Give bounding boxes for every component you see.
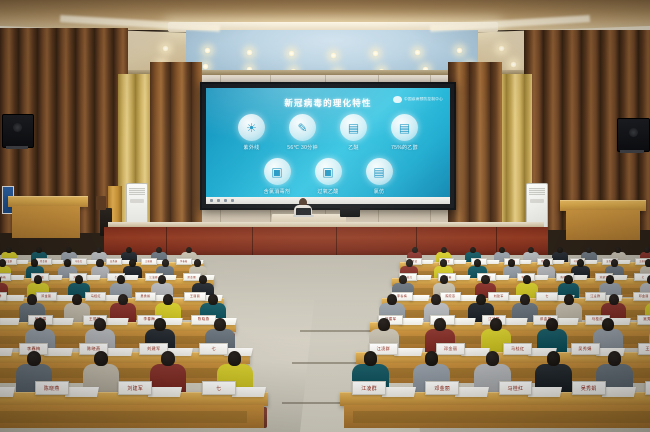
desk-paper <box>0 318 19 325</box>
attendee-head <box>499 247 505 253</box>
slide-item: ▤氯仿 <box>359 158 399 195</box>
speaker-left <box>2 114 34 148</box>
attendee-head <box>520 294 530 305</box>
attendee-head <box>117 275 125 284</box>
name-placard: 吴秀娟 <box>106 258 122 265</box>
ether-bottle-icon: ▤ <box>340 114 367 141</box>
ceiling-downlight <box>246 49 253 56</box>
attendee-head <box>161 351 175 366</box>
attendee-head <box>158 275 166 284</box>
thermometer-icon: ✎ <box>289 114 316 141</box>
slide-item-label: 过氧乙酸 <box>308 188 348 195</box>
name-placard: 邓金丽 <box>633 292 650 301</box>
chloroform-icon: ▤ <box>366 158 393 185</box>
attendee-head <box>126 247 132 253</box>
name-placard: 吴秀娟 <box>637 315 650 325</box>
name-placard: 吴秀娟 <box>571 343 600 355</box>
placard-name: 陈晓燕 <box>198 317 210 322</box>
attendee-head <box>154 318 166 331</box>
desk-paper <box>555 318 579 325</box>
attendee-head <box>194 259 201 267</box>
slide-item-label: 75%的乙醇 <box>385 144 425 151</box>
desk-paper <box>232 387 266 397</box>
curtain-inner-brown-left <box>150 62 202 234</box>
stage-monitor[interactable] <box>340 206 360 217</box>
placard-name: 王丽丽 <box>190 294 200 298</box>
stage-front-panel <box>104 227 548 257</box>
placard-name: 江凌群 <box>149 275 158 279</box>
desk-paper <box>400 318 424 325</box>
attendee-head <box>186 247 192 253</box>
attendee-head <box>425 351 439 366</box>
name-placard: 邓金丽 <box>36 292 57 301</box>
desk-shelf <box>0 411 247 423</box>
logo-mark-icon <box>393 96 402 103</box>
placard-name: 吴秀娟 <box>643 317 650 322</box>
desk-paper <box>0 387 15 397</box>
attendee-head <box>486 351 500 366</box>
placard-name: 江凌群 <box>5 260 13 263</box>
placard-name: 马桂红 <box>508 385 524 392</box>
name-placard: 刘建军 <box>488 292 509 301</box>
attendee-head <box>441 247 447 253</box>
attendee-head <box>543 259 550 267</box>
name-placard: 陈晓燕 <box>35 381 69 395</box>
attendee-head <box>546 318 558 331</box>
name-placard: 王丽丽 <box>638 343 650 355</box>
desktop-taskbar[interactable] <box>206 197 450 204</box>
name-placard: 邓金丽 <box>183 273 201 281</box>
placard-name: 李春梅 <box>180 260 188 263</box>
name-placard: 七 <box>202 381 236 395</box>
name-placard: 邓金丽 <box>436 343 465 355</box>
chlorine-disinfectant-icon: ▣ <box>264 158 291 185</box>
desk-paper <box>148 387 182 397</box>
placard-name: 吴秀娟 <box>581 385 597 392</box>
placard-name: 陈晓燕 <box>445 294 455 298</box>
desk-paper <box>65 387 99 397</box>
attendee-head <box>94 318 106 331</box>
placard-name: 江凌群 <box>590 294 600 298</box>
attendee-head <box>378 318 390 331</box>
placard-name: 李春梅 <box>397 294 407 298</box>
placard-name: 马桂红 <box>91 294 101 298</box>
desk-paper <box>503 318 527 325</box>
uv-rays-icon: ☀ <box>238 114 265 141</box>
attendee-head <box>508 259 515 267</box>
name-placard: 李春梅 <box>0 273 11 281</box>
side-table-left-front <box>12 206 80 238</box>
slide-item: ▣过氧乙酸 <box>308 158 348 195</box>
slide-item: ▤乙醚 <box>334 114 374 151</box>
attendee-head <box>214 318 226 331</box>
speaker-right <box>617 118 650 152</box>
speaker-bracket-left <box>6 146 28 149</box>
attendee-head <box>0 259 6 267</box>
name-placard: 马桂红 <box>503 343 532 355</box>
placard-name: 王丽丽 <box>645 346 650 352</box>
name-placard: 邓金丽 <box>425 381 459 395</box>
name-placard: 江凌群 <box>585 292 606 301</box>
name-placard: 七 <box>536 292 557 301</box>
ceiling-downlight <box>162 45 169 52</box>
placard-name: 江凌群 <box>0 294 2 298</box>
attendee-head <box>31 259 38 267</box>
ceiling-downlight <box>510 61 517 68</box>
placard-name: 刘建军 <box>127 385 143 392</box>
placard-name: 陈晓燕 <box>44 385 60 392</box>
attendee-head <box>547 351 561 366</box>
attendee-head <box>6 247 12 253</box>
desk-paper <box>49 318 73 325</box>
taskbar-app-icon[interactable] <box>217 199 220 202</box>
slide-item-label: 56℃ 30分钟 <box>283 144 323 151</box>
slide-item: ☀紫外线 <box>232 114 272 151</box>
placard-name: 江凌群 <box>361 385 377 392</box>
placard-name: 吴秀娟 <box>578 346 592 352</box>
attendee-head <box>564 294 574 305</box>
placard-name: 李春梅 <box>0 275 6 279</box>
peracetic-acid-icon: ▣ <box>315 158 342 185</box>
attendee-head <box>387 294 397 305</box>
attendee-head <box>156 247 162 253</box>
attendee-head <box>434 318 446 331</box>
slide-item-label: 紫外线 <box>232 144 272 151</box>
ceiling-downlight <box>330 52 337 59</box>
attendee-head <box>96 247 102 253</box>
placard-name: 邓金丽 <box>187 275 196 279</box>
attendee-head <box>208 294 218 305</box>
attendee-head <box>27 351 41 366</box>
name-placard: 王丽丽 <box>184 292 205 301</box>
desk-shelf <box>353 411 650 423</box>
placard-name: 邓金丽 <box>41 294 51 298</box>
laptop-keyboard[interactable] <box>293 215 314 217</box>
attendee-head <box>94 351 108 366</box>
slide-item: ✎56℃ 30分钟 <box>283 114 323 151</box>
attendee-head <box>72 294 82 305</box>
desk-paper <box>451 318 475 325</box>
name-placard: 马桂红 <box>71 258 87 265</box>
speaker-bracket-right <box>620 150 644 153</box>
attendee-head <box>162 259 169 267</box>
name-placard: 七 <box>199 343 228 355</box>
name-placard: 马桂红 <box>499 381 533 395</box>
attendee-head <box>523 275 531 284</box>
desk-paper <box>104 318 128 325</box>
taskbar-start-icon[interactable] <box>210 199 213 202</box>
attendee-head <box>645 259 650 267</box>
attendee-head <box>611 259 618 267</box>
name-placard: 江凌群 <box>0 292 7 301</box>
desk-paper <box>394 348 423 356</box>
curtain-inner-brown-right <box>448 62 502 232</box>
slide-logo: 中国疾病预防控制中心 <box>393 96 443 103</box>
name-placard: 江凌群 <box>352 381 386 395</box>
side-table-right-front <box>566 210 640 240</box>
attendee-head <box>406 259 413 267</box>
name-placard: 吴秀娟 <box>572 381 606 395</box>
attendee-head <box>476 294 486 305</box>
attendee-head <box>609 294 619 305</box>
lecture-hall-photo: 新冠病毒的理化特性 中国疾病预防控制中心 ☀紫外线✎56℃ 30分钟▤乙醚▤75… <box>0 0 650 432</box>
attendee-head <box>608 351 622 366</box>
attendee-head <box>399 275 407 284</box>
placard-name: 吴秀娟 <box>140 294 150 298</box>
desk-paper <box>455 387 489 397</box>
placard-name: 七 <box>212 346 217 352</box>
placard-name: 邓金丽 <box>639 294 649 298</box>
placard-name: 马桂红 <box>75 260 83 263</box>
ceiling-downlight <box>456 47 463 54</box>
slide-icon-row-2: ▣含氯消毒剂▣过氧乙酸▤氯仿 <box>206 158 450 195</box>
slide-item-label: 含氯消毒剂 <box>257 188 297 195</box>
attendee-head <box>431 294 441 305</box>
attendee-head <box>27 294 37 305</box>
desk-paper <box>382 387 416 397</box>
name-placard: 陈晓燕 <box>440 292 461 301</box>
placard-name: 七 <box>545 294 548 298</box>
slide-item: ▣含氯消毒剂 <box>257 158 297 195</box>
placard-name: 吴秀娟 <box>110 260 118 263</box>
name-placard: 李春梅 <box>176 258 192 265</box>
taskbar-app-icon[interactable] <box>224 199 227 202</box>
attendee-head <box>412 247 418 253</box>
placard-name: 邓金丽 <box>444 346 458 352</box>
attendee-head <box>606 275 614 284</box>
ceiling-downlight <box>204 47 211 54</box>
taskbar-app-icon[interactable] <box>231 199 234 202</box>
slide-item-label: 氯仿 <box>359 188 399 195</box>
placard-name: 七 <box>642 275 645 279</box>
attendee-head <box>34 275 42 284</box>
attendee-head <box>474 259 481 267</box>
attendee-head <box>34 318 46 331</box>
logo-text: 中国疾病预防控制中心 <box>404 97 443 102</box>
attendee-head <box>577 259 584 267</box>
ceiling-downlight <box>498 45 505 52</box>
desk-paper <box>602 387 636 397</box>
attendee-head <box>470 247 476 253</box>
placard-name: 邓金丽 <box>40 260 48 263</box>
placard-name: 江凌群 <box>377 346 391 352</box>
attendee-head <box>644 247 650 253</box>
attendee-head <box>602 318 614 331</box>
name-placard: 王丽丽 <box>645 381 650 395</box>
attendee-head <box>440 259 447 267</box>
desk-paper <box>0 348 13 356</box>
attendee-head <box>129 259 136 267</box>
attendee-head <box>96 259 103 267</box>
attendee-head <box>118 294 128 305</box>
lectern-left <box>96 196 106 210</box>
slide-item: ▤75%的乙醇 <box>385 114 425 151</box>
attendee-head <box>528 247 534 253</box>
attendee-head <box>440 275 448 284</box>
placard-name: 刘建军 <box>147 346 161 352</box>
ceiling-downlight <box>414 49 421 56</box>
attendee-head <box>557 247 563 253</box>
placard-name: 刘建军 <box>494 294 504 298</box>
attendee-head <box>66 247 72 253</box>
name-placard: 邓金丽 <box>36 258 52 265</box>
attendee-head <box>490 318 502 331</box>
name-placard: 王丽丽 <box>141 258 157 265</box>
attendee-head <box>564 275 572 284</box>
slide-icon-row-1: ☀紫外线✎56℃ 30分钟▤乙醚▤75%的乙醇 <box>206 114 450 151</box>
attendee-head <box>481 275 489 284</box>
desk-paper <box>105 348 134 356</box>
name-placard: 刘建军 <box>118 381 152 395</box>
name-placard: 吴秀娟 <box>135 292 156 301</box>
attendee-head <box>364 351 378 366</box>
desk-paper <box>528 387 562 397</box>
attendee-head <box>586 247 592 253</box>
attendee-head <box>228 351 242 366</box>
desk-paper <box>45 348 74 356</box>
placard-name: 马桂红 <box>511 346 525 352</box>
placard-name: 邓金丽 <box>434 385 450 392</box>
name-placard: 陈晓燕 <box>191 315 216 325</box>
placard-name: 王丽丽 <box>145 260 153 263</box>
name-placard: 马桂红 <box>85 292 106 301</box>
placard-name: 七 <box>216 385 221 392</box>
projection-screen[interactable]: 新冠病毒的理化特性 中国疾病预防控制中心 ☀紫外线✎56℃ 30分钟▤乙醚▤75… <box>200 82 456 210</box>
ethanol-icon: ▤ <box>391 114 418 141</box>
attendee-head <box>36 247 42 253</box>
slide-item-label: 乙醚 <box>334 144 374 151</box>
attendee-head <box>64 259 71 267</box>
projected-slide: 新冠病毒的理化特性 中国疾病预防控制中心 ☀紫外线✎56℃ 30分钟▤乙醚▤75… <box>206 88 450 204</box>
attendee-head <box>163 294 173 305</box>
